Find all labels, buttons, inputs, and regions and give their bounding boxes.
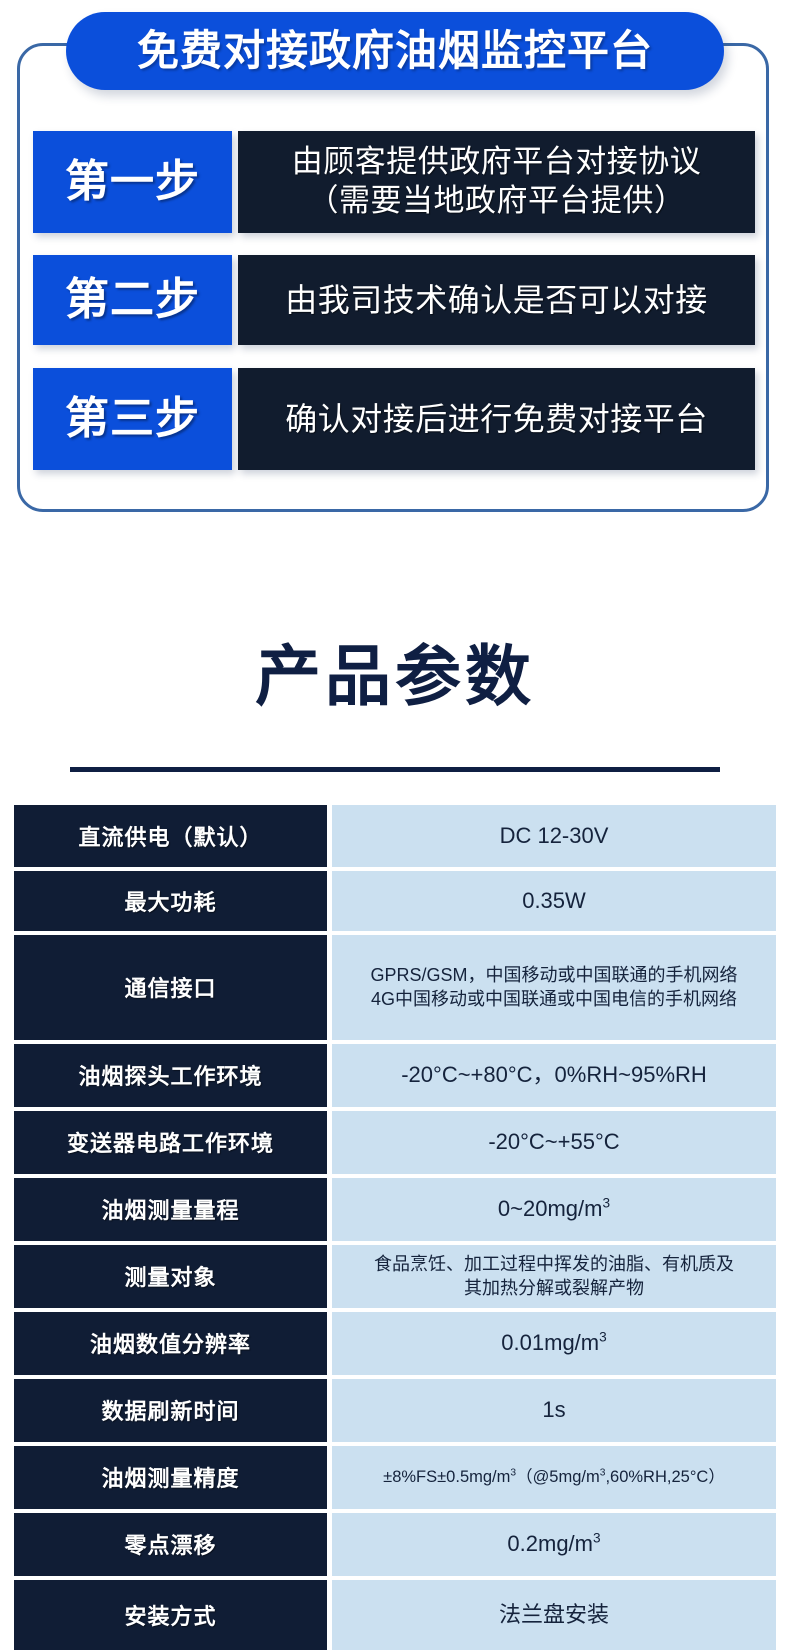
- param-value: 1s: [332, 1379, 776, 1446]
- param-value-line-2: 其加热分解或裂解产物: [340, 1276, 768, 1300]
- param-value-line-1: 食品烹饪、加工过程中挥发的油脂、有机质及: [340, 1252, 768, 1276]
- params-title-divider: [70, 767, 720, 772]
- step-1-body: 由顾客提供政府平台对接协议 （需要当地政府平台提供）: [238, 131, 755, 233]
- param-key: 油烟测量精度: [14, 1446, 332, 1513]
- param-value-condition-close: ,60%RH,25°C）: [605, 1468, 724, 1486]
- step-2-badge-label: 第二步: [65, 278, 200, 322]
- step-row-3: 第三步 确认对接后进行免费对接平台: [33, 368, 755, 470]
- param-value: -20°C~+55°C: [332, 1111, 776, 1178]
- table-row: 油烟探头工作环境 -20°C~+80°C，0%RH~95%RH: [14, 1044, 776, 1111]
- param-key: 测量对象: [14, 1245, 332, 1312]
- param-key: 油烟数值分辨率: [14, 1312, 332, 1379]
- section-header-badge-text: 免费对接政府油烟监控平台: [137, 30, 653, 72]
- step-1-badge-label: 第一步: [65, 160, 200, 204]
- params-section-title: 产品参数: [0, 595, 790, 709]
- param-value: 法兰盘安装: [332, 1580, 776, 1650]
- table-row: 通信接口 GPRS/GSM，中国移动或中国联通的手机网络 4G中国移动或中国联通…: [14, 935, 776, 1044]
- step-1-text-line-1: 由顾客提供政府平台对接协议: [292, 143, 702, 182]
- param-value: -20°C~+80°C，0%RH~95%RH: [332, 1044, 776, 1111]
- param-value-exponent: 3: [593, 1531, 601, 1546]
- table-row: 直流供电（默认） DC 12-30V: [14, 805, 776, 871]
- param-value: 0.2mg/m3: [332, 1513, 776, 1580]
- section-header-badge: 免费对接政府油烟监控平台: [66, 12, 724, 90]
- step-3-text-line-1: 确认对接后进行免费对接平台: [285, 399, 708, 439]
- table-row: 油烟测量精度 ±8%FS±0.5mg/m3（@5mg/m3,60%RH,25°C…: [14, 1446, 776, 1513]
- param-value-exponent: 3: [602, 1196, 610, 1211]
- step-2-text-line-1: 由我司技术确认是否可以对接: [285, 280, 708, 320]
- product-parameters-table: 直流供电（默认） DC 12-30V 最大功耗 0.35W 通信接口 GPRS/…: [14, 805, 776, 1650]
- param-value: 0.01mg/m3: [332, 1312, 776, 1379]
- table-row: 安装方式 法兰盘安装: [14, 1580, 776, 1650]
- table-row: 油烟测量量程 0~20mg/m3: [14, 1178, 776, 1245]
- table-row: 变送器电路工作环境 -20°C~+55°C: [14, 1111, 776, 1178]
- param-value-accuracy: ±8%FS±0.5mg/m: [383, 1468, 510, 1486]
- step-row-2: 第二步 由我司技术确认是否可以对接: [33, 255, 755, 345]
- param-value-main: 0.01mg/m: [501, 1330, 599, 1355]
- param-value: 0.35W: [332, 871, 776, 935]
- table-row: 油烟数值分辨率 0.01mg/m3: [14, 1312, 776, 1379]
- param-value: 食品烹饪、加工过程中挥发的油脂、有机质及 其加热分解或裂解产物: [332, 1245, 776, 1312]
- param-key: 通信接口: [14, 935, 332, 1044]
- param-value: DC 12-30V: [332, 805, 776, 871]
- step-1-text-line-2: （需要当地政府平台提供）: [308, 182, 686, 221]
- step-2-body: 由我司技术确认是否可以对接: [238, 255, 755, 345]
- table-row: 测量对象 食品烹饪、加工过程中挥发的油脂、有机质及 其加热分解或裂解产物: [14, 1245, 776, 1312]
- param-value-line-1: GPRS/GSM，中国移动或中国联通的手机网络: [340, 963, 768, 987]
- step-3-body: 确认对接后进行免费对接平台: [238, 368, 755, 470]
- param-value: 0~20mg/m3: [332, 1178, 776, 1245]
- param-value-main: 0.2mg/m: [507, 1531, 593, 1556]
- param-value-exponent: 3: [599, 1330, 607, 1345]
- free-docking-steps-section: 免费对接政府油烟监控平台 第一步 由顾客提供政府平台对接协议 （需要当地政府平台…: [0, 0, 790, 540]
- param-value-line-2: 4G中国移动或中国联通或中国电信的手机网络: [340, 987, 768, 1011]
- param-key: 直流供电（默认）: [14, 805, 332, 871]
- step-3-badge-label: 第三步: [65, 397, 200, 441]
- param-key: 油烟探头工作环境: [14, 1044, 332, 1111]
- param-value-main: 0~20mg/m: [498, 1196, 603, 1221]
- product-parameters-section: 产品参数 直流供电（默认） DC 12-30V 最大功耗 0.35W 通信接口 …: [0, 540, 790, 1650]
- param-value-condition-open: （@5mg/m: [516, 1468, 600, 1486]
- step-row-1: 第一步 由顾客提供政府平台对接协议 （需要当地政府平台提供）: [33, 131, 755, 233]
- param-key: 最大功耗: [14, 871, 332, 935]
- param-key: 零点漂移: [14, 1513, 332, 1580]
- table-row: 数据刷新时间 1s: [14, 1379, 776, 1446]
- param-key: 数据刷新时间: [14, 1379, 332, 1446]
- param-key: 安装方式: [14, 1580, 332, 1650]
- table-row: 最大功耗 0.35W: [14, 871, 776, 935]
- param-key: 油烟测量量程: [14, 1178, 332, 1245]
- table-row: 零点漂移 0.2mg/m3: [14, 1513, 776, 1580]
- step-2-badge: 第二步: [33, 255, 232, 345]
- param-key: 变送器电路工作环境: [14, 1111, 332, 1178]
- step-3-badge: 第三步: [33, 368, 232, 470]
- step-1-badge: 第一步: [33, 131, 232, 233]
- param-value: GPRS/GSM，中国移动或中国联通的手机网络 4G中国移动或中国联通或中国电信…: [332, 935, 776, 1044]
- param-value: ±8%FS±0.5mg/m3（@5mg/m3,60%RH,25°C）: [332, 1446, 776, 1513]
